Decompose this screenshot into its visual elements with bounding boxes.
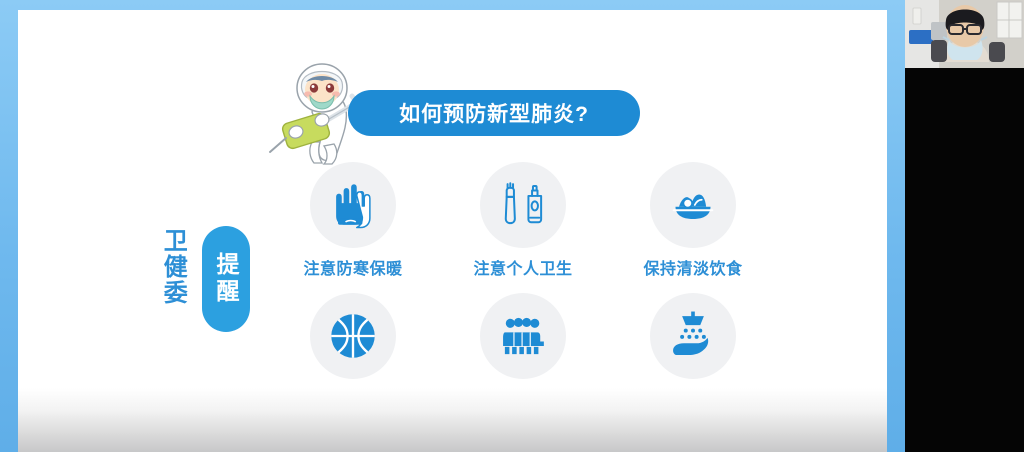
tip-label: 保持清淡饮食 <box>643 255 742 279</box>
webcam-pane[interactable] <box>905 0 1024 452</box>
tip-label: 注意个人卫生 <box>473 255 572 279</box>
food-bowl-icon <box>650 162 736 248</box>
tip-item-hygiene: 注意个人卫生 <box>438 162 608 279</box>
tip-item-gloves: 注意防寒保暖 <box>268 162 438 279</box>
gloves-icon <box>310 162 396 248</box>
video-frame <box>905 0 1024 68</box>
tip-item-diet: 保持清淡饮食 <box>608 162 778 279</box>
shared-slide-area: 如何预防新型肺炎? 卫健委 提醒 <box>0 0 905 452</box>
brand-block: 卫健委 提醒 <box>158 226 258 334</box>
crowd-icon <box>480 293 566 379</box>
page-title: 如何预防新型肺炎? <box>399 98 589 128</box>
basketball-icon <box>310 293 396 379</box>
brand-pill-label: 提醒 <box>209 252 243 306</box>
brand-pill-badge: 提醒 <box>202 226 250 332</box>
slide-bottom-gradient <box>18 388 887 452</box>
participant-video[interactable] <box>905 0 1024 68</box>
brand-organization: 卫健委 <box>160 228 185 306</box>
slide-title-banner: 如何预防新型肺炎? <box>348 90 640 136</box>
prevention-tips-grid: 注意防寒保暖 <box>268 162 778 410</box>
slide-canvas: 如何预防新型肺炎? 卫健委 提醒 <box>18 10 887 452</box>
handwash-icon <box>650 293 736 379</box>
screen-root: 如何预防新型肺炎? 卫健委 提醒 <box>0 0 1024 452</box>
tip-label: 注意防寒保暖 <box>303 255 402 279</box>
toothbrush-icon <box>480 162 566 248</box>
